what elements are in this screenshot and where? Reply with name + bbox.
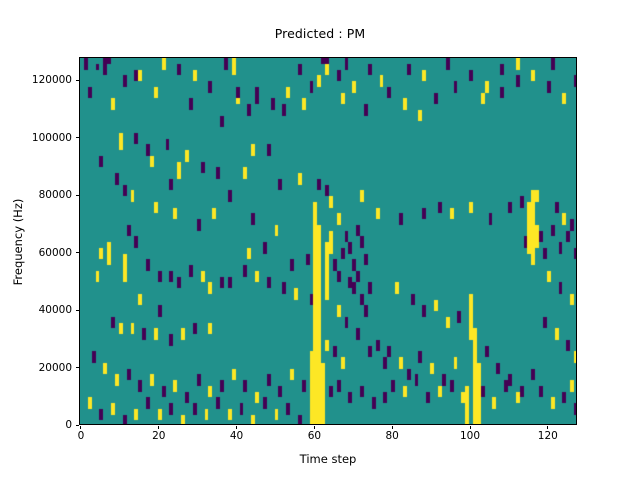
y-tick-label: 20000 (6, 362, 72, 374)
x-tick-label: 80 (362, 430, 422, 442)
x-tick-mark (158, 426, 159, 430)
heatmap-axes (79, 57, 577, 425)
x-tick-label: 100 (440, 430, 500, 442)
heatmap-canvas (80, 58, 577, 425)
x-tick-mark (547, 426, 548, 430)
x-axis-label: Time step (79, 452, 577, 466)
x-tick-mark (80, 426, 81, 430)
x-tick-label: 0 (51, 430, 111, 442)
x-tick-mark (392, 426, 393, 430)
y-tick-mark (76, 137, 80, 138)
x-tick-label: 120 (518, 430, 578, 442)
x-tick-label: 60 (284, 430, 344, 442)
y-tick-mark (76, 367, 80, 368)
x-tick-mark (314, 426, 315, 430)
x-tick-mark (236, 426, 237, 430)
x-tick-label: 40 (207, 430, 267, 442)
chart-title: Predicted : PM (0, 26, 640, 41)
matplotlib-figure: Predicted : PM 0200004000060000800001000… (0, 0, 640, 480)
y-tick-mark (76, 252, 80, 253)
y-tick-mark (76, 425, 80, 426)
x-tick-mark (470, 426, 471, 430)
y-tick-mark (76, 195, 80, 196)
y-tick-label: 120000 (6, 74, 72, 86)
y-tick-mark (76, 310, 80, 311)
x-tick-label: 20 (129, 430, 189, 442)
y-tick-mark (76, 80, 80, 81)
y-axis-label: Frequency (Hz) (11, 132, 25, 352)
